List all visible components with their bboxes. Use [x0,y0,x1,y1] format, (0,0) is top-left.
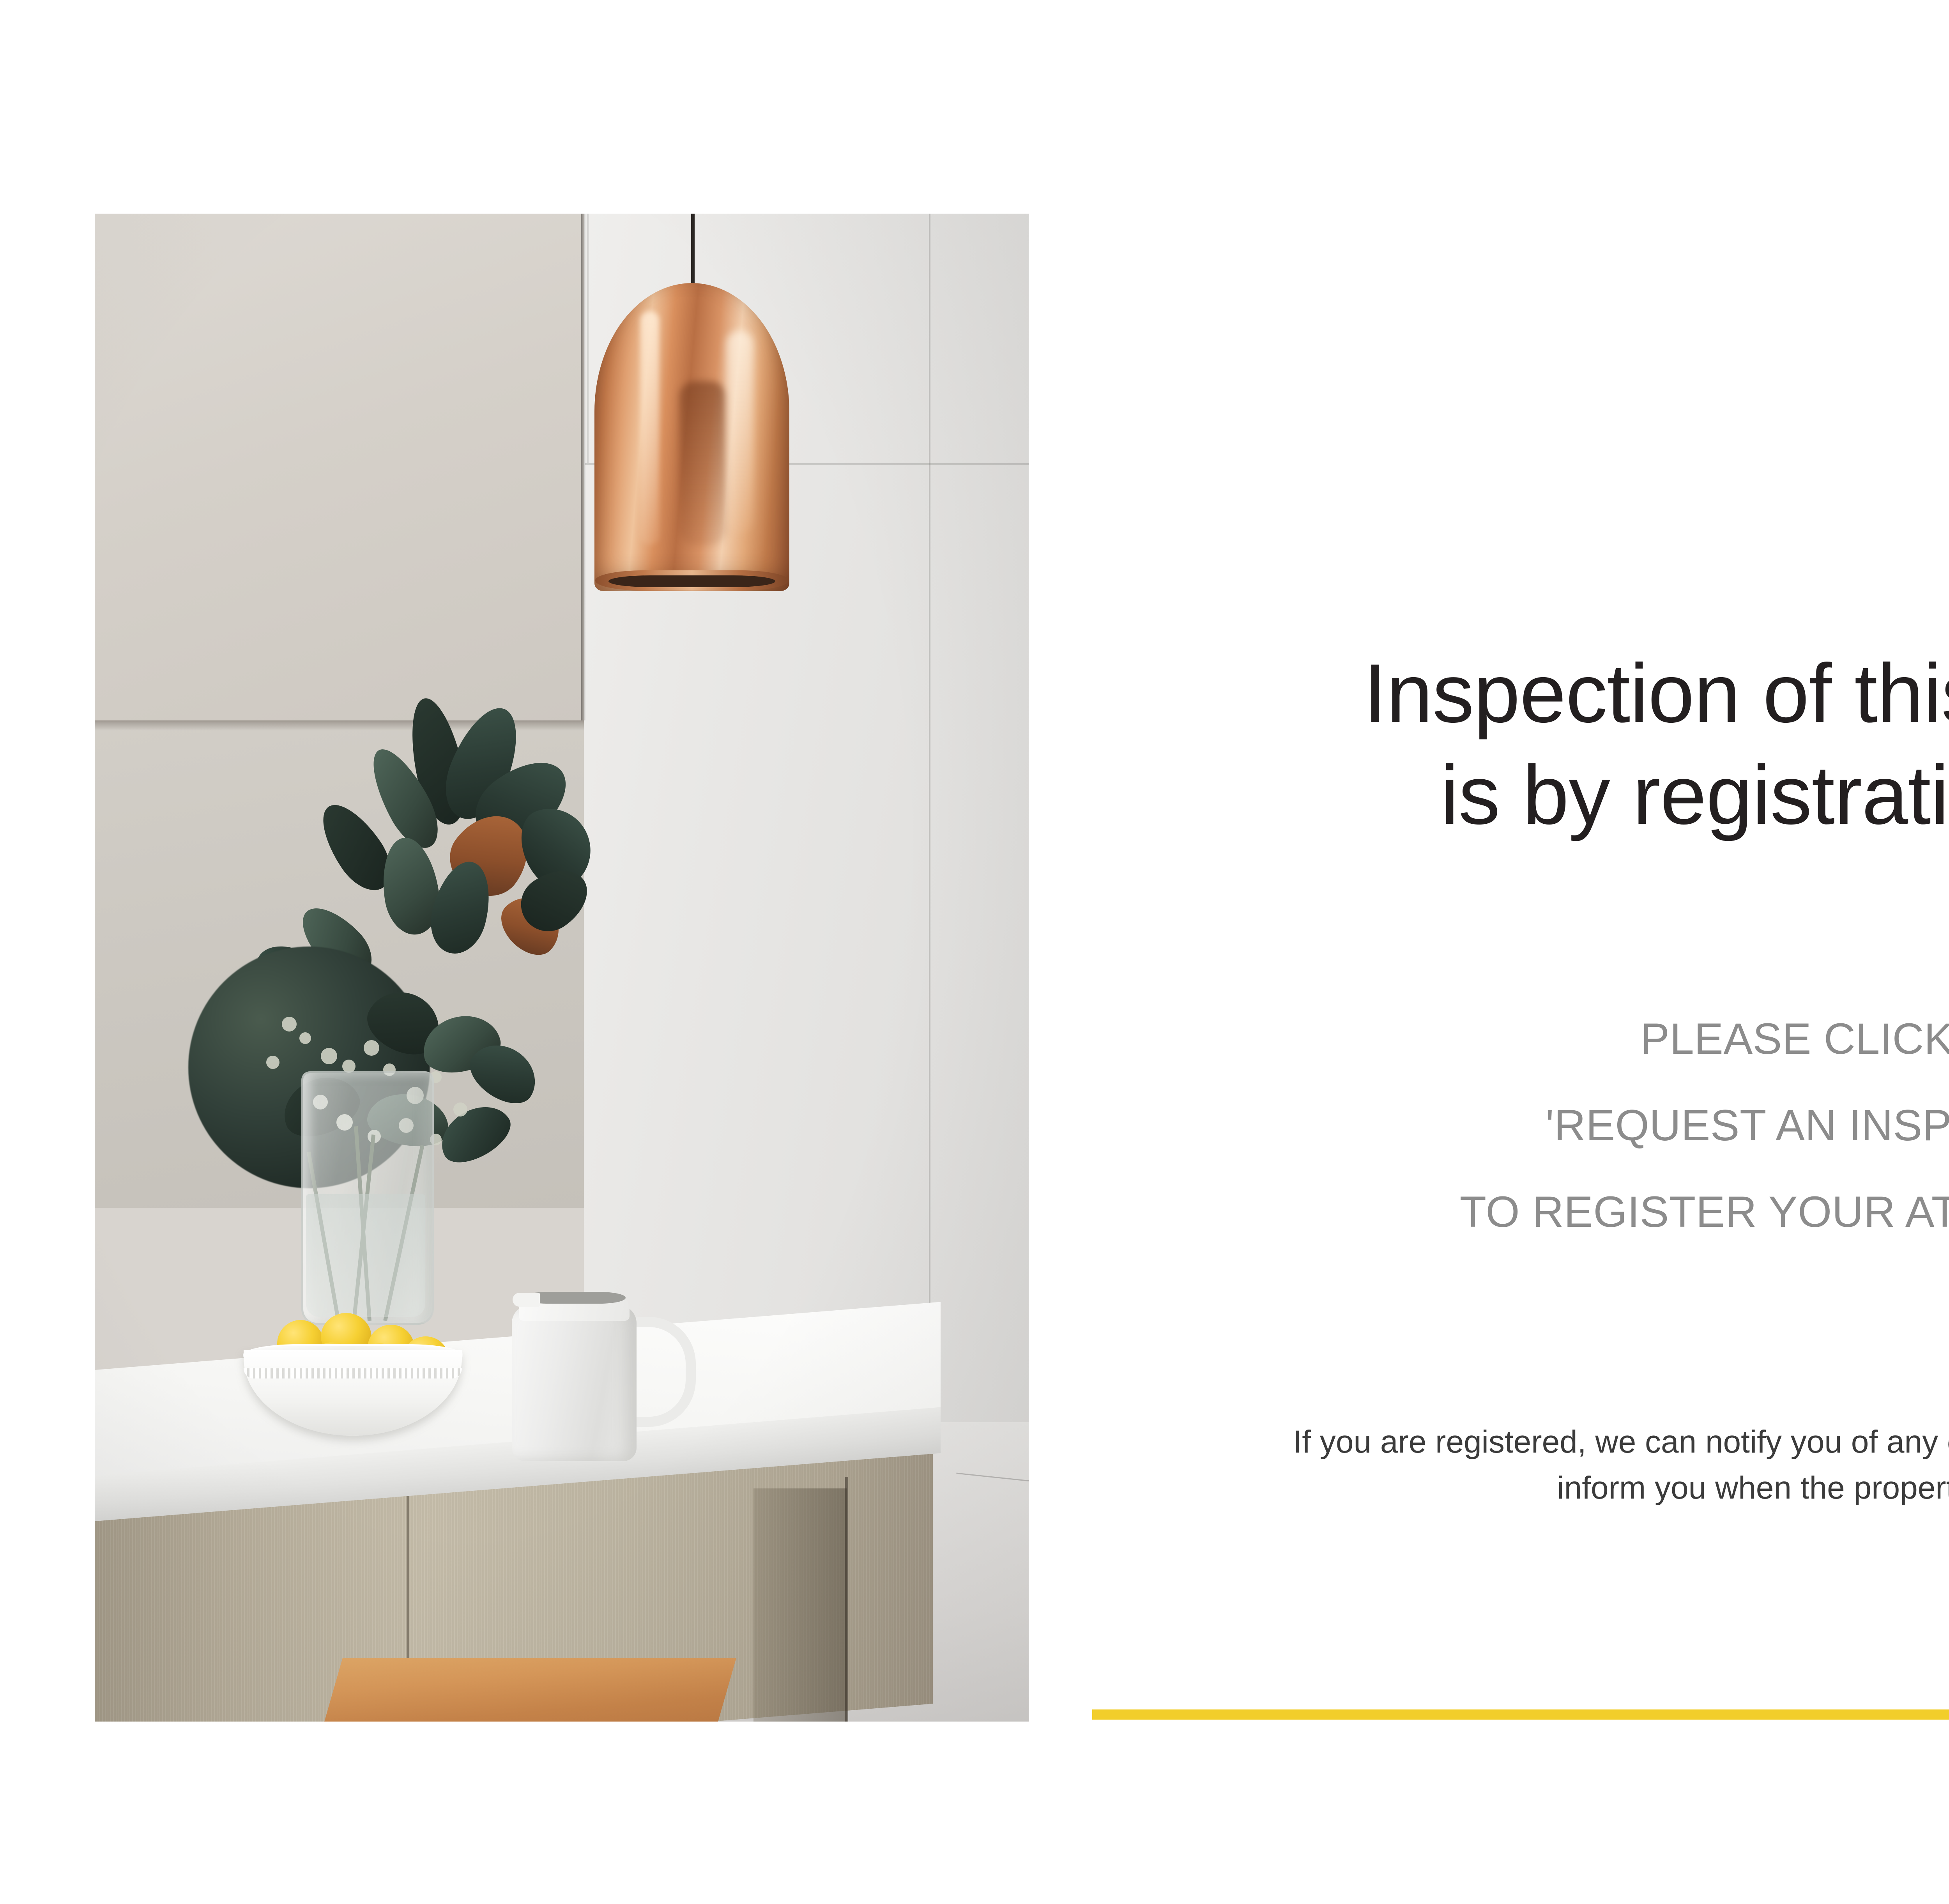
inspection-notice-page: RayWhite® Inspection of this property is… [0,0,1949,1904]
instruction-line-2: 'REQUEST AN INSPECTION' [1088,1100,1949,1150]
yellow-divider [1092,1709,1949,1720]
body-copy-line-1: If you are registered, we can notify you… [1088,1419,1949,1465]
kitchen-photo-scene [95,214,1029,1722]
page-title: Inspection of this property is by regist… [1088,642,1949,846]
headline-line-1: Inspection of this property [1088,642,1949,744]
island-side-shadow [753,1488,847,1722]
kitchen-photo [95,214,1029,1722]
body-copy: If you are registered, we can notify you… [1088,1419,1949,1511]
vase-water [306,1194,425,1317]
lamp-highlight-2 [726,331,753,533]
pendant-lamp-cord [691,214,695,286]
lamp-reflection-dark [679,381,726,545]
lamp-inner-shadow [608,575,775,587]
cabinet-seam-vertical-2 [587,214,589,463]
fruit-bowl-beading [244,1368,462,1378]
wall-upper [95,214,590,724]
instruction-line-1: PLEASE CLICK ON [1088,1014,1949,1064]
body-copy-line-2: inform you when the property is leased. [1088,1465,1949,1511]
cabinet-seam-vertical [929,214,930,1438]
cabinet-edge-shadow [581,214,586,720]
timber-stool-seat [315,1658,736,1722]
lamp-highlight-1 [640,311,659,545]
ceramic-jug [512,1305,637,1461]
island-corner-edge [845,1477,848,1722]
headline-line-2: is by registration only. [1088,744,1949,846]
jug-spout [513,1293,540,1307]
instruction-line-3: TO REGISTER YOUR ATTENDANCE. [1088,1187,1949,1237]
instructions-block: PLEASE CLICK ON 'REQUEST AN INSPECTION' … [1088,1014,1949,1237]
